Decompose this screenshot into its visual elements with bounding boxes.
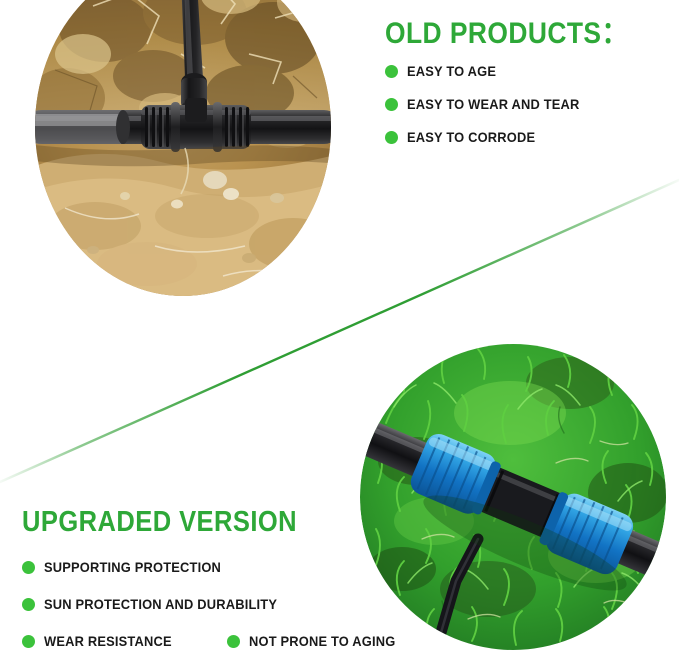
old-products-bullet-list: EASY TO AGE EASY TO WEAR AND TEAR EASY T… [385, 64, 670, 145]
list-item: EASY TO CORRODE [385, 130, 670, 145]
bullet-dot-icon [385, 65, 398, 78]
bullet-label: SUPPORTING PROTECTION [44, 560, 221, 575]
bullet-label: EASY TO WEAR AND TEAR [407, 97, 580, 112]
bullet-dot-icon [385, 98, 398, 111]
bullet-dot-icon [22, 598, 35, 611]
list-item: WEAR RESISTANCE NOT PRONE TO AGING [22, 634, 422, 649]
old-product-photo [35, 0, 331, 296]
bullet-label: NOT PRONE TO AGING [249, 634, 395, 649]
bullet-label: EASY TO AGE [407, 64, 496, 79]
upgraded-version-bullet-list: SUPPORTING PROTECTION SUN PROTECTION AND… [22, 560, 422, 649]
upgraded-version-heading: UPGRADED VERSION [22, 506, 374, 538]
bullet-dot-icon [227, 635, 240, 648]
list-item: SUN PROTECTION AND DURABILITY [22, 597, 422, 612]
bullet-dot-icon [22, 635, 35, 648]
bullet-dot-icon [22, 561, 35, 574]
bullet-label: SUN PROTECTION AND DURABILITY [44, 597, 277, 612]
old-products-heading: OLD PRODUCTS： [385, 18, 636, 50]
list-item: EASY TO AGE [385, 64, 670, 79]
bullet-dot-icon [385, 131, 398, 144]
old-products-panel: OLD PRODUCTS： EASY TO AGE EASY TO WEAR A… [385, 18, 670, 145]
bullet-label: EASY TO CORRODE [407, 130, 535, 145]
list-item: SUPPORTING PROTECTION [22, 560, 422, 575]
list-item: EASY TO WEAR AND TEAR [385, 97, 670, 112]
infographic-page: OLD PRODUCTS： EASY TO AGE EASY TO WEAR A… [0, 0, 679, 667]
upgraded-version-panel: UPGRADED VERSION SUPPORTING PROTECTION S… [22, 506, 422, 667]
bullet-label: WEAR RESISTANCE [44, 634, 172, 649]
